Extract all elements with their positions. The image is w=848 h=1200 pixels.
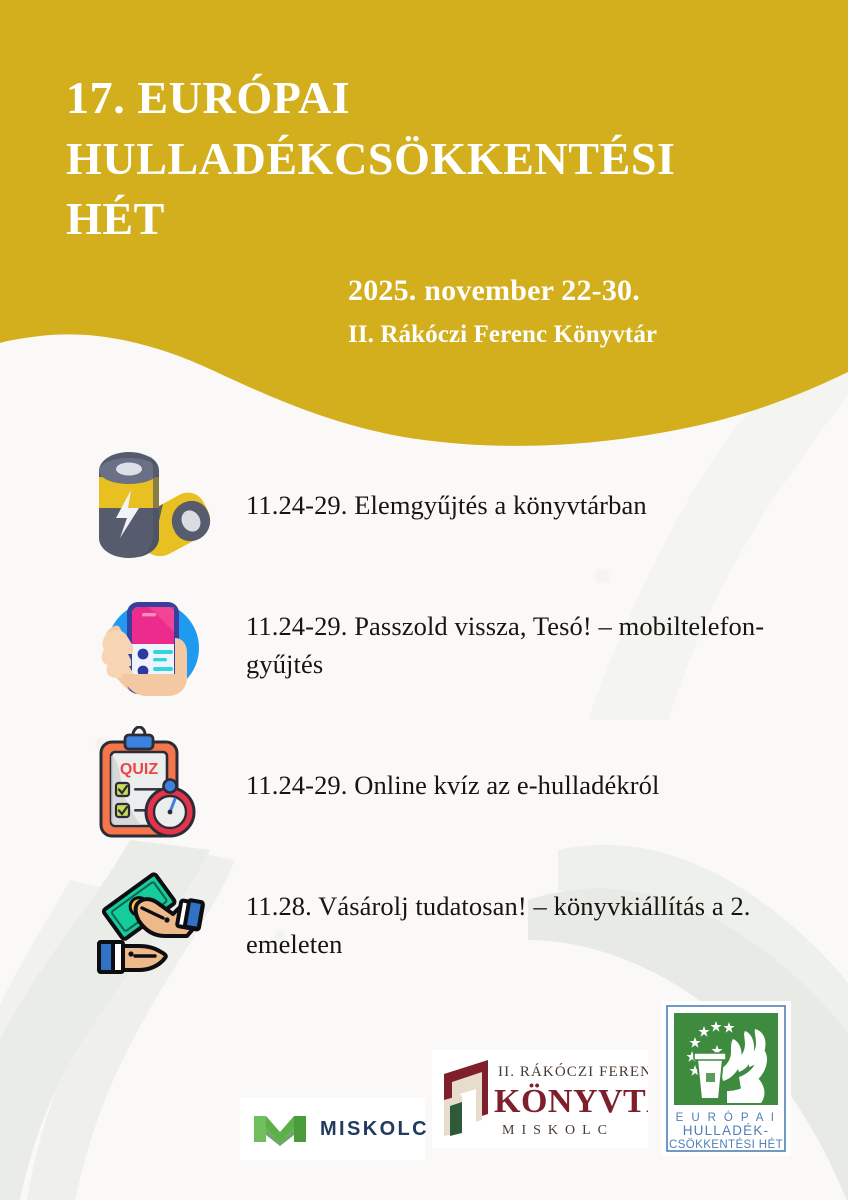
header-banner [0,0,848,480]
miskolc-logo[interactable]: MISKOLC [240,1098,425,1160]
header-wave-shape [0,0,848,480]
hand-holding-phone-icon [80,581,220,711]
library-logo-graphic: II. RÁKÓCZI FERENC KÖNYVTÁR MISKOLC [432,1050,648,1148]
quiz-clipboard-stopwatch-icon: QUIZ [80,721,220,851]
program-item: 11.24-29. Elemgyűjtés a könyvtárban [0,436,848,576]
library-line-1: II. RÁKÓCZI FERENC [498,1063,648,1080]
ewwr-line-2: HULLADÉK- [683,1123,770,1138]
program-list: 11.24-29. Elemgyűjtés a könyvtárban [0,436,848,996]
footer-logos: MISKOLC II. RÁKÓCZI FERENC KÖNYVTÁR MISK… [0,998,848,1178]
program-item-text: 11.24-29. Online kvíz az e-hulladékról [220,767,848,805]
miskolc-logo-text: MISKOLC [320,1118,429,1141]
rakoczi-library-logo[interactable]: II. RÁKÓCZI FERENC KÖNYVTÁR MISKOLC [432,1050,648,1148]
ewwr-logo-graphic: E U R Ó P A I HULLADÉK- CSÖKKENTÉSI HÉT [661,1001,791,1156]
quiz-label: QUIZ [120,761,158,778]
program-item: 11.28. Vásárolj tudatosan! – könyvkiállí… [0,856,848,996]
library-line-3: MISKOLC [502,1123,614,1138]
european-week-for-waste-reduction-logo[interactable]: E U R Ó P A I HULLADÉK- CSÖKKENTÉSI HÉT [661,1001,791,1156]
program-item-text: 11.24-29. Elemgyűjtés a könyvtárban [220,487,848,525]
hands-exchanging-money-icon [80,861,220,991]
library-line-2: KÖNYVTÁR [494,1083,648,1120]
batteries-icon [80,441,220,571]
program-item: QUIZ 11.24-29. Online kvíz az e-hul [0,716,848,856]
program-item-text: 11.28. Vásárolj tudatosan! – könyvkiállí… [220,888,848,963]
miskolc-mark-icon [252,1112,308,1146]
ewwr-line-3: CSÖKKENTÉSI HÉT [669,1138,783,1151]
program-item-text: 11.24-29. Passzold vissza, Tesó! – mobil… [220,608,848,683]
poster-root: 17. EURÓPAI HULLADÉKCSÖKKENTÉSI HÉT 2025… [0,0,848,1200]
program-item: 11.24-29. Passzold vissza, Tesó! – mobil… [0,576,848,716]
